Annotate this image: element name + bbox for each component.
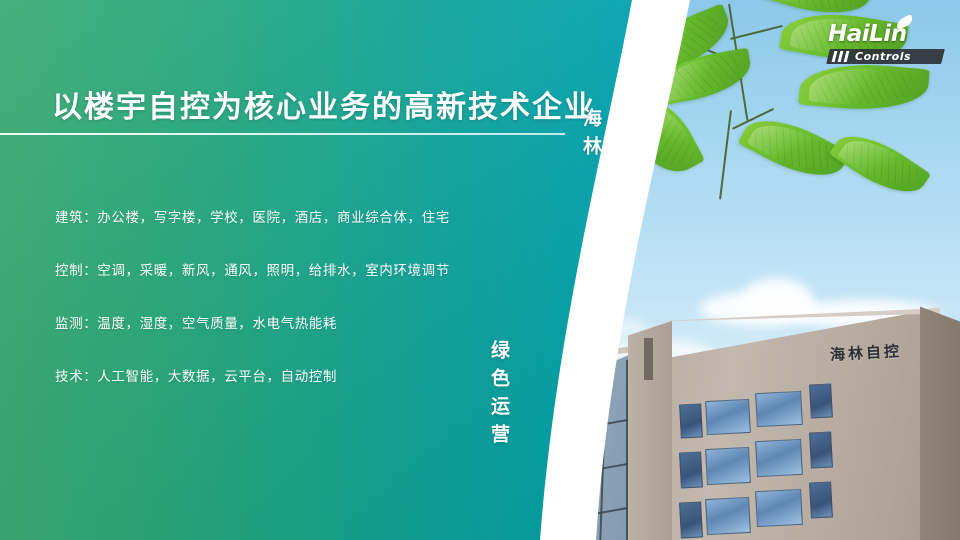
logo-slashes-icon xyxy=(833,51,848,62)
slide-canvas: 海林自控 以楼宇自控为核心业务的高新技术企业 建筑：办公楼，写字楼，学校，医院，… xyxy=(0,0,960,540)
vertical-text-hailin: 海林 xyxy=(578,108,605,164)
logo-subbar: Controls xyxy=(828,49,943,64)
title-divider xyxy=(0,133,565,135)
logo-wordmark: HaiLin xyxy=(828,22,948,46)
page-title: 以楼宇自控为核心业务的高新技术企业 xyxy=(52,82,596,126)
slide-content: 以楼宇自控为核心业务的高新技术企业 建筑：办公楼，写字楼，学校，医院，酒店，商业… xyxy=(0,0,620,540)
list-item: 监测：温度，湿度，空气质量，水电气热能耗 xyxy=(55,312,575,332)
vertical-text-green-operation: 绿色运营 xyxy=(486,340,513,452)
brand-logo: HaiLin Controls xyxy=(828,22,948,68)
logo-subtitle: Controls xyxy=(855,50,911,63)
list-item: 建筑：办公楼，写字楼，学校，医院，酒店，商业综合体，住宅 xyxy=(55,206,575,226)
list-item: 控制：空调，采暖，新风，通风，照明，给排水，室内环境调节 xyxy=(55,259,575,279)
